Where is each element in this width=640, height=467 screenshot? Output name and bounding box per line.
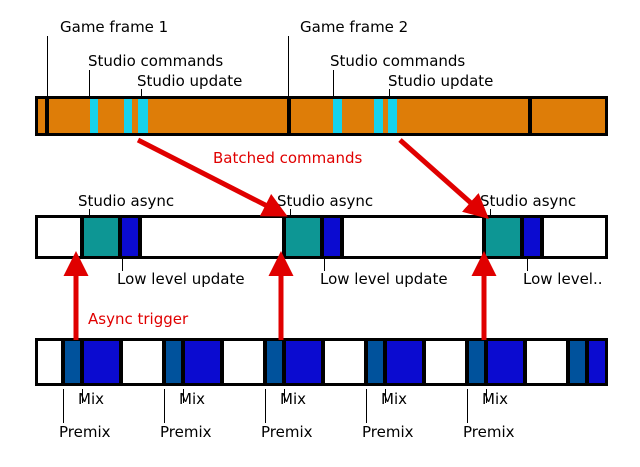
game-thread-label-text: Game frame 2 [300, 20, 408, 35]
game-thread-label-text: Studio update [137, 74, 242, 89]
low-level-update-block [523, 218, 540, 256]
segment-divider [523, 341, 527, 383]
mixer-label-leader-line [183, 389, 184, 403]
studio-update-block [138, 99, 148, 133]
mixer-thread-timeline [35, 338, 608, 386]
game-frame-segment [397, 99, 528, 133]
mixer-label-text: Premix [463, 425, 515, 440]
mixer-label-text: Premix [261, 425, 313, 440]
segment-divider [181, 341, 185, 383]
premix-block [265, 341, 282, 383]
segment-divider [162, 341, 166, 383]
segment-divider [282, 341, 286, 383]
segment-divider [465, 341, 469, 383]
batched-commands-label: Batched commands [213, 151, 362, 166]
segment-divider [482, 218, 486, 256]
timeline-end-cap [605, 218, 608, 256]
segment-divider [566, 341, 570, 383]
studio-commands-block [374, 99, 383, 133]
low-level-update-label-text: Low level update [117, 272, 245, 287]
low-level-update-block [323, 218, 340, 256]
diagram-canvas: Game frame 1Studio commandsStudio update… [0, 0, 640, 467]
game-thread-label-leader-line [47, 36, 48, 97]
studio-async-block [82, 218, 118, 256]
studio-async-label-text: Studio async [78, 194, 174, 209]
premix-block [568, 341, 585, 383]
mixer-label-text: Premix [362, 425, 414, 440]
low-level-update-label-text: Low level update [320, 272, 448, 287]
low-level-update-label-text: Low level.. [523, 272, 603, 287]
batched-commands-arrow-2 [400, 140, 480, 211]
game-frame-segment [98, 99, 124, 133]
game-frame-segment [38, 99, 45, 133]
mixer-label-leader-line [265, 389, 266, 423]
mixer-label-leader-line [284, 389, 285, 403]
studio-async-label-text: Studio async [480, 194, 576, 209]
mix-block [588, 341, 605, 383]
mixer-label-leader-line [486, 389, 487, 403]
game-frame-segment [148, 99, 287, 133]
mixer-label-leader-line [82, 389, 83, 403]
game-thread-label-text: Game frame 1 [60, 20, 168, 35]
segment-divider [585, 341, 589, 383]
segment-divider [422, 341, 426, 383]
studio-async-label-text: Studio async [277, 194, 373, 209]
mixer-label-leader-line [164, 389, 165, 423]
segment-divider [383, 341, 387, 383]
mixer-label-leader-line [63, 389, 64, 423]
premix-block [63, 341, 80, 383]
game-frame-segment [532, 99, 605, 133]
low-level-update-label-leader-line [122, 259, 123, 271]
premix-block [164, 341, 181, 383]
low-level-update-block [121, 218, 138, 256]
game-thread-timeline [35, 96, 608, 136]
studio-update-block [388, 99, 397, 133]
timeline-end-cap [35, 218, 38, 256]
segment-divider [321, 341, 325, 383]
mixer-label-leader-line [467, 389, 468, 423]
mixer-label-leader-line [366, 389, 367, 423]
segment-divider [364, 341, 368, 383]
async-trigger-label: Async trigger [88, 312, 188, 327]
studio-commands-block [90, 99, 98, 133]
premix-block [467, 341, 484, 383]
segment-divider [80, 218, 84, 256]
low-level-update-label-leader-line [324, 259, 325, 271]
game-thread-label-text: Studio update [388, 74, 493, 89]
game-thread-label-text: Studio commands [330, 54, 465, 69]
segment-divider [80, 341, 84, 383]
mix-block [386, 341, 422, 383]
segment-divider [520, 218, 524, 256]
mixer-label-text: Premix [59, 425, 111, 440]
studio-async-timeline [35, 215, 608, 259]
premix-block [366, 341, 383, 383]
segment-divider [138, 218, 142, 256]
game-thread-label-leader-line [288, 36, 289, 97]
studio-commands-block [124, 99, 132, 133]
game-thread-label-text: Studio commands [88, 54, 223, 69]
studio-async-block [284, 218, 320, 256]
mixer-label-leader-line [385, 389, 386, 403]
segment-divider [320, 218, 324, 256]
mixer-label-text: Premix [160, 425, 212, 440]
segment-divider [61, 341, 65, 383]
game-thread-label-leader-line [333, 70, 334, 97]
segment-divider [540, 218, 544, 256]
segment-divider [119, 341, 123, 383]
segment-divider [484, 341, 488, 383]
game-frame-segment [291, 99, 333, 133]
studio-commands-block [333, 99, 342, 133]
game-frame-segment [49, 99, 90, 133]
segment-divider [220, 341, 224, 383]
segment-divider [282, 218, 286, 256]
segment-divider [263, 341, 267, 383]
mix-block [83, 341, 119, 383]
game-thread-label-leader-line [89, 70, 90, 97]
segment-divider [340, 218, 344, 256]
mix-block [285, 341, 321, 383]
timeline-end-cap [605, 99, 608, 133]
game-frame-segment [342, 99, 374, 133]
studio-async-block [484, 218, 520, 256]
mix-block [487, 341, 523, 383]
segment-divider [118, 218, 122, 256]
timeline-end-cap [35, 341, 38, 383]
low-level-update-label-leader-line [527, 259, 528, 271]
timeline-end-cap [605, 341, 608, 383]
mix-block [184, 341, 220, 383]
